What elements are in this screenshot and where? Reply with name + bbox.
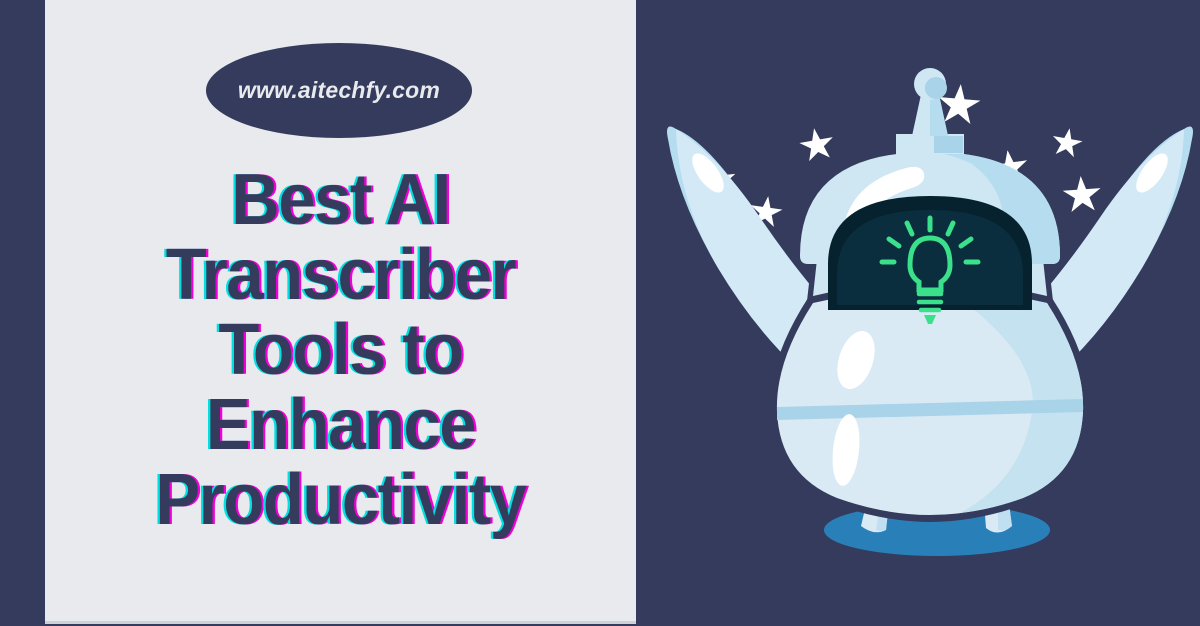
headline-line-4: Enhance	[66, 388, 616, 463]
website-url-label: www.aitechfy.com	[238, 77, 440, 104]
poster-canvas: www.aitechfy.com Best AI Transcriber Too…	[0, 0, 1200, 626]
antenna-ball-shade	[925, 77, 947, 99]
antenna-base-shade	[934, 136, 963, 153]
headline-line-5: Productivity	[66, 463, 616, 538]
panel-bottom-edge	[45, 621, 636, 624]
headline-line-1: Best AI	[66, 163, 616, 238]
headline-line-3: Tools to	[66, 313, 616, 388]
robot-illustration	[660, 60, 1200, 580]
page-title: Best AI Transcriber Tools to Enhance Pro…	[45, 163, 636, 538]
website-url-badge[interactable]: www.aitechfy.com	[206, 43, 472, 138]
headline-line-2: Transcriber	[66, 238, 616, 313]
